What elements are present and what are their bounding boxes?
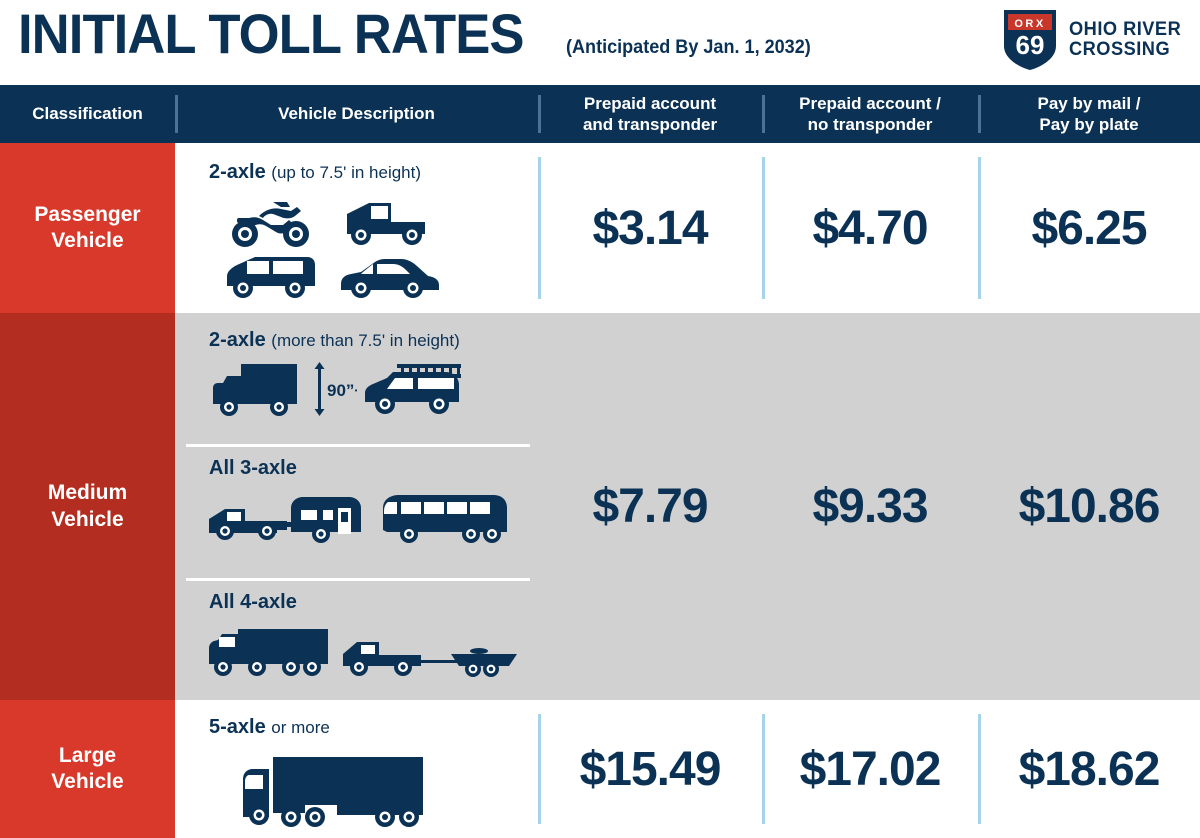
price-passenger-prepaid-no-transponder: $4.70 <box>762 143 978 313</box>
box-truck-icon <box>207 360 307 420</box>
description-separator <box>186 444 530 447</box>
table-row-passenger-vehicle: Passenger Vehicle 2-axle (up to 7.5' in … <box>0 143 1200 313</box>
column-divider <box>538 714 541 824</box>
price-large-prepaid-no-transponder: $17.02 <box>762 700 978 838</box>
logo-wordmark-line2: CROSSING <box>1069 40 1181 60</box>
description-label-large: 5-axle or more <box>209 716 538 739</box>
column-header-pay-by-mail-line1: Pay by mail / <box>1038 93 1141 114</box>
page-title: INITIAL TOLL RATES <box>18 6 524 62</box>
description-label-medium-3axle: All 3-axle <box>209 457 538 480</box>
price-medium-prepaid-transponder: $7.79 <box>538 313 762 700</box>
classification-large-line1: Large <box>51 743 123 769</box>
svg-text:90”+: 90”+ <box>327 381 357 400</box>
svg-text:69: 69 <box>1016 30 1045 60</box>
table-row-medium-vehicle: Medium Vehicle 2-axle (more than 7.5' in… <box>0 313 1200 700</box>
column-header-vehicle-description: Vehicle Description <box>175 85 538 143</box>
column-divider <box>762 157 765 299</box>
description-label-medium-2axle: 2-axle (more than 7.5' in height) <box>209 329 538 352</box>
logo-wordmark: OHIO RIVER CROSSING <box>1069 20 1181 60</box>
description-label-bold: 2-axle <box>209 329 266 351</box>
pickup-towing-trailer-icon <box>205 490 373 548</box>
title-group: INITIAL TOLL RATES (Anticipated By Jan. … <box>18 6 824 62</box>
description-label-bold: 2-axle <box>209 161 266 183</box>
column-header-prepaid-transponder-line2: and transponder <box>583 114 717 135</box>
column-divider <box>538 157 541 299</box>
description-label-bold: 5-axle <box>209 716 266 738</box>
table-row-large-vehicle: Large Vehicle 5-axle or more <box>0 700 1200 838</box>
coach-bus-icon <box>379 490 513 548</box>
column-header-prepaid-transponder: Prepaid account and transponder <box>538 85 762 143</box>
column-divider <box>978 157 981 299</box>
sedan-car-icon <box>335 252 439 302</box>
description-cell-medium: 2-axle (more than 7.5' in height) <box>175 313 538 700</box>
interstate-shield-icon: ORX 69 <box>1000 8 1060 72</box>
price-medium-pay-by-mail: $10.86 <box>978 313 1200 700</box>
pickup-truck-icon <box>337 192 433 250</box>
page-subtitle: (Anticipated By Jan. 1, 2032) <box>566 37 811 59</box>
column-header-prepaid-no-transponder-line1: Prepaid account / <box>799 93 941 114</box>
classification-large-line2: Vehicle <box>51 769 123 795</box>
classification-cell-passenger: Passenger Vehicle <box>0 143 175 313</box>
header-divider <box>175 95 178 133</box>
title-bar: INITIAL TOLL RATES (Anticipated By Jan. … <box>0 0 1200 85</box>
description-label-medium-4axle: All 4-axle <box>209 591 538 614</box>
column-header-classification-label: Classification <box>32 103 143 124</box>
description-label-light: or more <box>271 718 330 737</box>
orx-logo[interactable]: ORX 69 OHIO RIVER CROSSING <box>1000 8 1186 72</box>
column-header-prepaid-no-transponder-line2: no transponder <box>799 114 941 135</box>
price-large-prepaid-transponder: $15.49 <box>538 700 762 838</box>
price-passenger-pay-by-mail: $6.25 <box>978 143 1200 313</box>
description-label-light: (up to 7.5' in height) <box>271 163 421 182</box>
motorcycle-icon <box>223 192 319 250</box>
column-header-vehicle-description-label: Vehicle Description <box>278 103 435 124</box>
minivan-icon <box>219 252 321 302</box>
column-header-classification: Classification <box>0 85 175 143</box>
column-header-pay-by-mail: Pay by mail / Pay by plate <box>978 85 1200 143</box>
header-divider <box>762 95 765 133</box>
van-with-ladder-rack-icon <box>361 360 473 420</box>
description-label-bold: All 4-axle <box>209 591 297 613</box>
description-label-light: (more than 7.5' in height) <box>271 331 459 350</box>
description-cell-large: 5-axle or more <box>175 700 538 838</box>
classification-medium-line2: Vehicle <box>48 507 127 533</box>
classification-medium-line1: Medium <box>48 480 127 506</box>
description-cell-passenger: 2-axle (up to 7.5' in height) <box>175 143 538 313</box>
header-divider <box>538 95 541 133</box>
description-label-passenger: 2-axle (up to 7.5' in height) <box>209 161 538 184</box>
svg-text:ORX: ORX <box>1014 18 1045 30</box>
classification-passenger-line2: Vehicle <box>34 228 140 254</box>
four-axle-box-truck-icon <box>205 624 333 682</box>
classification-cell-medium: Medium Vehicle <box>0 313 175 700</box>
height-arrow-icon: 90”+ <box>311 360 357 420</box>
header-divider <box>978 95 981 133</box>
column-header-prepaid-transponder-line1: Prepaid account <box>583 93 717 114</box>
logo-wordmark-line1: OHIO RIVER <box>1069 20 1181 40</box>
column-divider <box>978 714 981 824</box>
column-header-pay-by-mail-line2: Pay by plate <box>1038 114 1141 135</box>
semi-tractor-trailer-icon <box>237 749 449 831</box>
table-header-row: Classification Vehicle Description Prepa… <box>0 85 1200 143</box>
classification-passenger-line1: Passenger <box>34 202 140 228</box>
price-medium-prepaid-no-transponder: $9.33 <box>762 313 978 700</box>
classification-cell-large: Large Vehicle <box>0 700 175 838</box>
price-large-pay-by-mail: $18.62 <box>978 700 1200 838</box>
column-header-prepaid-no-transponder: Prepaid account / no transponder <box>762 85 978 143</box>
price-passenger-prepaid-transponder: $3.14 <box>538 143 762 313</box>
pickup-towing-boat-icon <box>339 624 519 682</box>
description-separator <box>186 578 530 581</box>
description-label-bold: All 3-axle <box>209 457 297 479</box>
column-divider <box>762 714 765 824</box>
